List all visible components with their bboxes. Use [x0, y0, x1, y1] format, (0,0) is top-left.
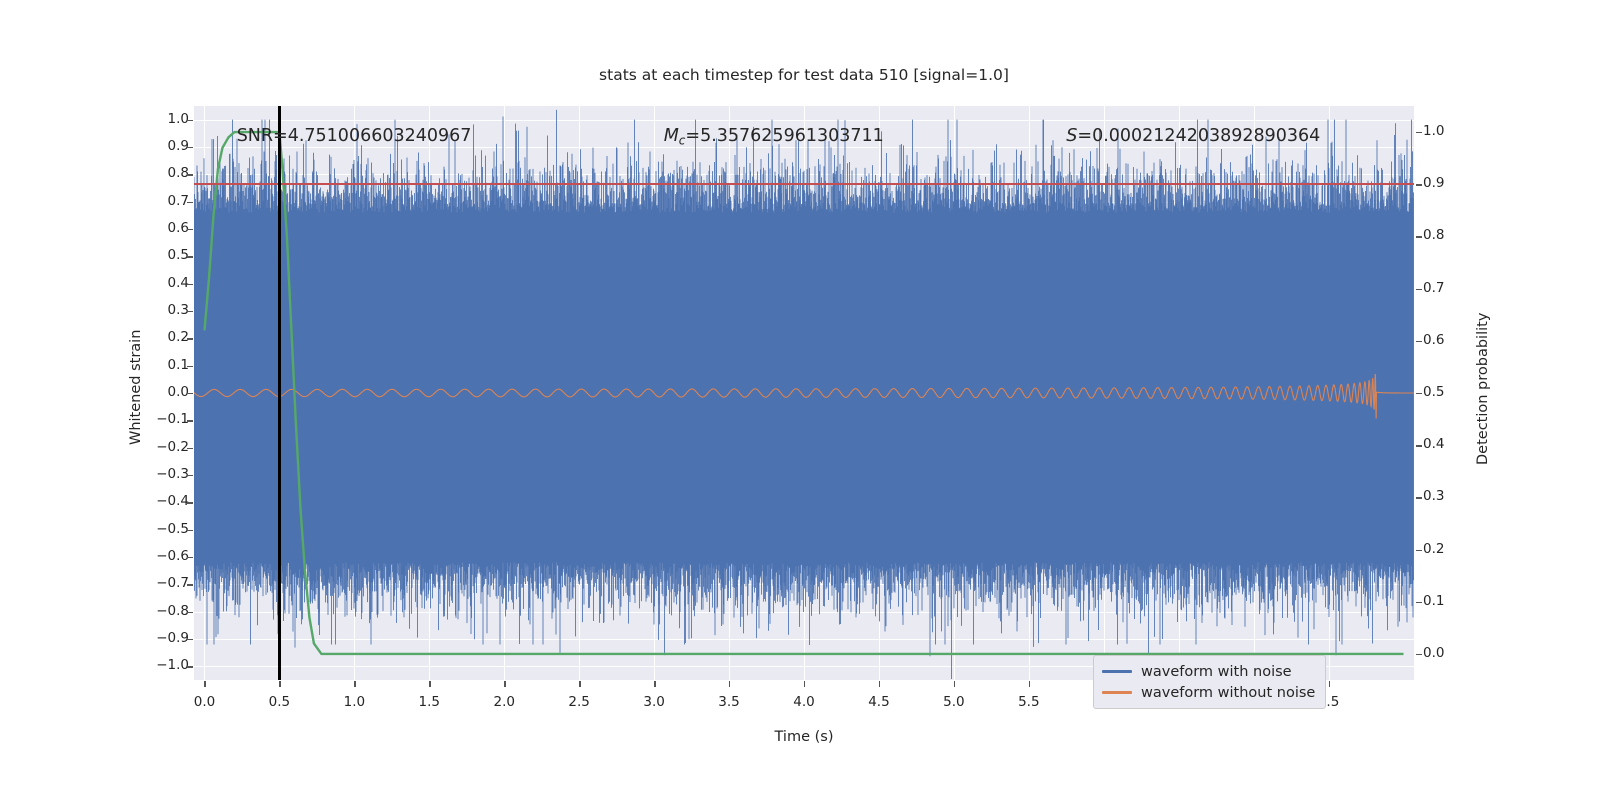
x-tick-mark — [429, 681, 430, 687]
y-tick-label-left: 1.0 — [168, 111, 189, 127]
legend-item-1[interactable]: waveform without noise — [1102, 682, 1315, 703]
y-tick-mark-right — [1416, 132, 1422, 133]
y-tick-label-right: 0.7 — [1423, 280, 1444, 296]
y-tick-label-left: 0.7 — [168, 193, 189, 209]
y-tick-mark-left — [187, 475, 193, 476]
y-tick-mark-right — [1416, 497, 1422, 498]
y-tick-label-left: −0.4 — [156, 493, 189, 509]
legend-color-swatch — [1102, 670, 1132, 673]
y-tick-mark-right — [1416, 341, 1422, 342]
legend-item-0[interactable]: waveform with noise — [1102, 661, 1315, 682]
x-tick-mark — [954, 681, 955, 687]
detection-probability-path — [204, 132, 1403, 654]
x-axis-label: Time (s) — [194, 729, 1414, 745]
x-tick-label: 3.0 — [643, 694, 664, 710]
y-tick-label-right: 0.4 — [1423, 436, 1444, 452]
y-tick-label-left: −0.8 — [156, 603, 189, 619]
y-tick-mark-left — [187, 393, 193, 394]
y-tick-label-left: 0.6 — [168, 220, 189, 236]
y-tick-mark-left — [187, 584, 193, 585]
y-tick-label-left: −0.2 — [156, 439, 189, 455]
x-tick-mark — [354, 681, 355, 687]
y-tick-mark-right — [1416, 602, 1422, 603]
y-tick-label-left: −0.9 — [156, 630, 189, 646]
y-tick-label-left: 0.0 — [168, 384, 189, 400]
y-tick-label-left: 0.5 — [168, 247, 189, 263]
y-tick-label-left: −0.3 — [156, 466, 189, 482]
y-tick-label-left: 0.8 — [168, 165, 189, 181]
y-tick-mark-right — [1416, 445, 1422, 446]
y-axis-label-left: Whitened strain — [128, 330, 144, 445]
y-tick-label-right: 0.8 — [1423, 227, 1444, 243]
y-tick-mark-left — [187, 530, 193, 531]
merger-marker-line — [278, 106, 281, 680]
y-tick-mark-right — [1416, 236, 1422, 237]
y-tick-label-left: 0.1 — [168, 357, 189, 373]
y-tick-label-right: 0.5 — [1423, 384, 1444, 400]
series-detection-probability — [194, 106, 1414, 680]
x-tick-mark — [204, 681, 205, 687]
y-tick-mark-left — [187, 557, 193, 558]
y-tick-mark-right — [1416, 393, 1422, 394]
y-tick-mark-left — [187, 229, 193, 230]
y-tick-mark-left — [187, 666, 193, 667]
x-tick-label: 2.0 — [493, 694, 514, 710]
y-tick-mark-left — [187, 502, 193, 503]
chart-title: stats at each timestep for test data 510… — [194, 66, 1414, 84]
y-tick-label-right: 1.0 — [1423, 123, 1444, 139]
annotation-snr: SNR=4.751006603240967 — [237, 126, 472, 146]
x-tick-label: 5.0 — [943, 694, 964, 710]
x-tick-label: 3.5 — [718, 694, 739, 710]
y-tick-label-left: 0.4 — [168, 275, 189, 291]
y-tick-label-right: 0.6 — [1423, 332, 1444, 348]
x-tick-label: 5.5 — [1018, 694, 1039, 710]
annotation-chirp-mass: Mc=5.357625961303711 — [664, 126, 884, 147]
x-tick-label: 1.0 — [344, 694, 365, 710]
y-tick-mark-left — [187, 448, 193, 449]
x-tick-label: 0.0 — [194, 694, 215, 710]
detection-threshold-line — [194, 183, 1414, 185]
y-tick-label-left: −0.7 — [156, 575, 189, 591]
y-tick-mark-left — [187, 366, 193, 367]
x-tick-label: 1.5 — [419, 694, 440, 710]
y-tick-mark-left — [187, 311, 193, 312]
y-tick-label-right: 0.9 — [1423, 175, 1444, 191]
legend-label: waveform without noise — [1141, 685, 1315, 701]
legend-label: waveform with noise — [1141, 664, 1292, 680]
x-tick-mark — [279, 681, 280, 687]
y-tick-mark-left — [187, 174, 193, 175]
y-tick-label-right: 0.1 — [1423, 593, 1444, 609]
x-tick-mark — [729, 681, 730, 687]
y-tick-mark-left — [187, 284, 193, 285]
x-tick-mark — [654, 681, 655, 687]
x-tick-label: 2.5 — [568, 694, 589, 710]
x-tick-label: 0.5 — [269, 694, 290, 710]
x-tick-mark — [1029, 681, 1030, 687]
y-tick-mark-left — [187, 612, 193, 613]
y-tick-mark-right — [1416, 289, 1422, 290]
y-tick-label-left: 0.9 — [168, 138, 189, 154]
y-tick-label-left: 0.3 — [168, 302, 189, 318]
y-tick-label-right: 0.3 — [1423, 488, 1444, 504]
y-tick-mark-left — [187, 256, 193, 257]
y-tick-mark-left — [187, 120, 193, 121]
figure-canvas: stats at each timestep for test data 510… — [0, 0, 1600, 800]
y-tick-mark-right — [1416, 550, 1422, 551]
y-tick-mark-left — [187, 147, 193, 148]
y-tick-label-left: −1.0 — [156, 657, 189, 673]
y-tick-label-right: 0.0 — [1423, 645, 1444, 661]
x-tick-mark — [1329, 681, 1330, 687]
x-tick-mark — [879, 681, 880, 687]
y-axis-label-right: Detection probability — [1475, 313, 1491, 465]
chart-legend[interactable]: waveform with noisewaveform without nois… — [1093, 655, 1326, 709]
y-tick-label-right: 0.2 — [1423, 541, 1444, 557]
x-tick-mark — [804, 681, 805, 687]
y-tick-mark-left — [187, 639, 193, 640]
x-tick-label: 4.0 — [793, 694, 814, 710]
x-tick-label: 4.5 — [868, 694, 889, 710]
annotation-signal-score: S=0.0002124203892890364 — [1066, 126, 1320, 146]
y-tick-label-left: 0.2 — [168, 329, 189, 345]
x-tick-mark — [504, 681, 505, 687]
plot-area: SNR=4.751006603240967 Mc=5.3576259613037… — [194, 106, 1414, 680]
y-tick-label-left: −0.6 — [156, 548, 189, 564]
y-tick-mark-left — [187, 338, 193, 339]
legend-color-swatch — [1102, 691, 1132, 694]
y-tick-mark-left — [187, 202, 193, 203]
y-tick-mark-right — [1416, 654, 1422, 655]
y-tick-mark-left — [187, 420, 193, 421]
y-tick-label-left: −0.1 — [156, 411, 189, 427]
y-tick-mark-right — [1416, 184, 1422, 185]
y-tick-label-left: −0.5 — [156, 521, 189, 537]
x-tick-mark — [579, 681, 580, 687]
